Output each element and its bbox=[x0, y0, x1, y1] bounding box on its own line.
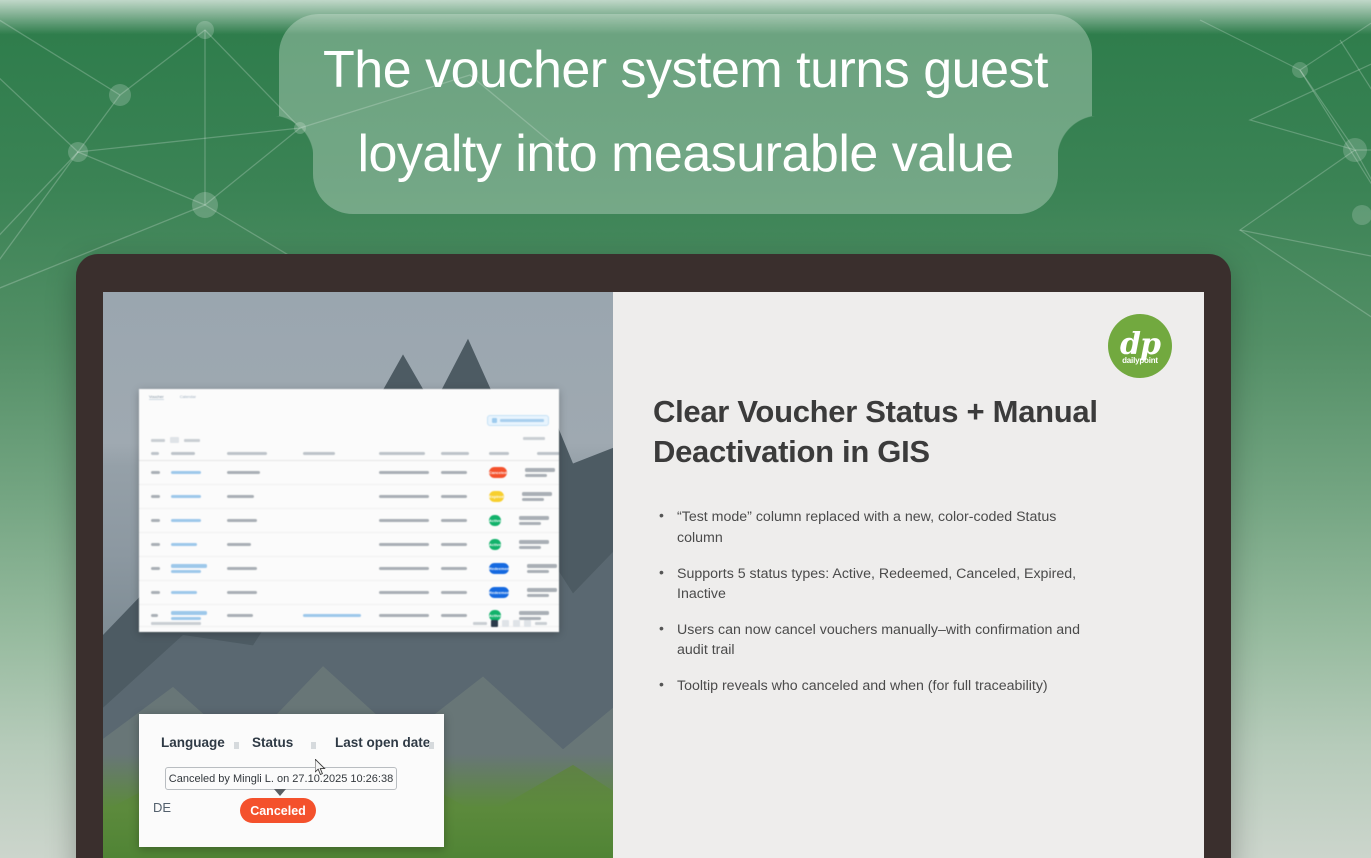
entries-select[interactable] bbox=[170, 437, 179, 443]
show-label bbox=[151, 439, 165, 442]
add-voucher-label bbox=[500, 419, 544, 422]
column-header-last-open-date[interactable]: Last open date bbox=[335, 735, 430, 750]
tab-calendar[interactable]: Calendar bbox=[180, 394, 196, 400]
presentation-slide: dp dailypoint Clear Voucher Status + Man… bbox=[613, 292, 1204, 858]
status-badge-canceled: Canceled bbox=[240, 798, 316, 823]
search-label bbox=[523, 437, 545, 440]
plus-icon bbox=[492, 418, 497, 423]
dailypoint-logo-icon: dp dailypoint bbox=[1108, 314, 1172, 378]
table-row[interactable]: Active bbox=[139, 509, 559, 533]
sort-icon[interactable] bbox=[311, 742, 316, 749]
status-badge: Canceled bbox=[489, 467, 507, 478]
status-badge: Expired bbox=[489, 491, 504, 502]
status-badge: Redeemed bbox=[489, 563, 509, 574]
headline-line-2-wrapper: loyalty into measurable value bbox=[313, 116, 1057, 214]
voucher-table-tabs[interactable]: Voucher Calendar bbox=[139, 389, 559, 403]
column-header-status[interactable]: Status bbox=[252, 735, 293, 750]
headline-banner: The voucher system turns guest loyalty i… bbox=[0, 14, 1371, 214]
logo-wordmark: dailypoint bbox=[1122, 356, 1158, 365]
table-length-control[interactable] bbox=[151, 437, 200, 443]
sort-icon[interactable] bbox=[429, 742, 434, 749]
table-search[interactable] bbox=[503, 437, 545, 440]
language-value: DE bbox=[153, 800, 171, 815]
headline-line-1: The voucher system turns guest bbox=[279, 14, 1092, 116]
table-header-row bbox=[139, 447, 559, 461]
table-row[interactable]: Canceled bbox=[139, 461, 559, 485]
table-entries-note bbox=[151, 622, 201, 625]
tab-voucher[interactable]: Voucher bbox=[149, 394, 164, 400]
tooltip-arrow-icon bbox=[274, 789, 286, 796]
pagination-page-current[interactable] bbox=[491, 620, 498, 627]
bullet-item: Users can now cancel vouchers manually–w… bbox=[653, 620, 1083, 660]
pagination-page[interactable] bbox=[513, 620, 520, 627]
sort-icon[interactable] bbox=[234, 742, 239, 749]
headline-line-2: loyalty into measurable value bbox=[313, 116, 1057, 214]
bullet-item: Supports 5 status types: Active, Redeeme… bbox=[653, 564, 1083, 604]
laptop-screen: dp dailypoint Clear Voucher Status + Man… bbox=[103, 292, 1204, 858]
tooltip-detail-card: Language Status Last open date Canceled … bbox=[139, 714, 444, 847]
bullet-item: Tooltip reveals who canceled and when (f… bbox=[653, 676, 1083, 696]
entries-label bbox=[184, 439, 200, 442]
mouse-cursor-icon bbox=[315, 759, 326, 775]
slide-bullet-list: “Test mode” column replaced with a new, … bbox=[653, 507, 1083, 696]
pagination-page[interactable] bbox=[524, 620, 531, 627]
table-row[interactable]: Active bbox=[139, 533, 559, 557]
slide-title: Clear Voucher Status + Manual Deactivati… bbox=[653, 392, 1123, 471]
logo-monogram: dp bbox=[1120, 331, 1160, 358]
pagination[interactable] bbox=[473, 620, 547, 627]
column-header-language[interactable]: Language bbox=[161, 735, 225, 750]
pagination-next[interactable] bbox=[535, 622, 547, 625]
table-row[interactable]: Redeemed bbox=[139, 581, 559, 605]
add-voucher-button[interactable] bbox=[487, 415, 549, 426]
table-row[interactable]: Expired bbox=[139, 485, 559, 509]
status-badge: Active bbox=[489, 515, 501, 526]
bullet-item: “Test mode” column replaced with a new, … bbox=[653, 507, 1083, 547]
status-badge: Redeemed bbox=[489, 587, 509, 598]
table-footer bbox=[139, 614, 559, 632]
cancel-tooltip: Canceled by Mingli L. on 27.10.2025 10:2… bbox=[165, 767, 397, 790]
status-badge: Active bbox=[489, 539, 501, 550]
pagination-page[interactable] bbox=[502, 620, 509, 627]
laptop-frame: dp dailypoint Clear Voucher Status + Man… bbox=[76, 254, 1231, 858]
table-row[interactable]: Redeemed bbox=[139, 557, 559, 581]
voucher-table-screenshot: Voucher Calendar bbox=[139, 389, 559, 632]
pagination-previous[interactable] bbox=[473, 622, 487, 625]
